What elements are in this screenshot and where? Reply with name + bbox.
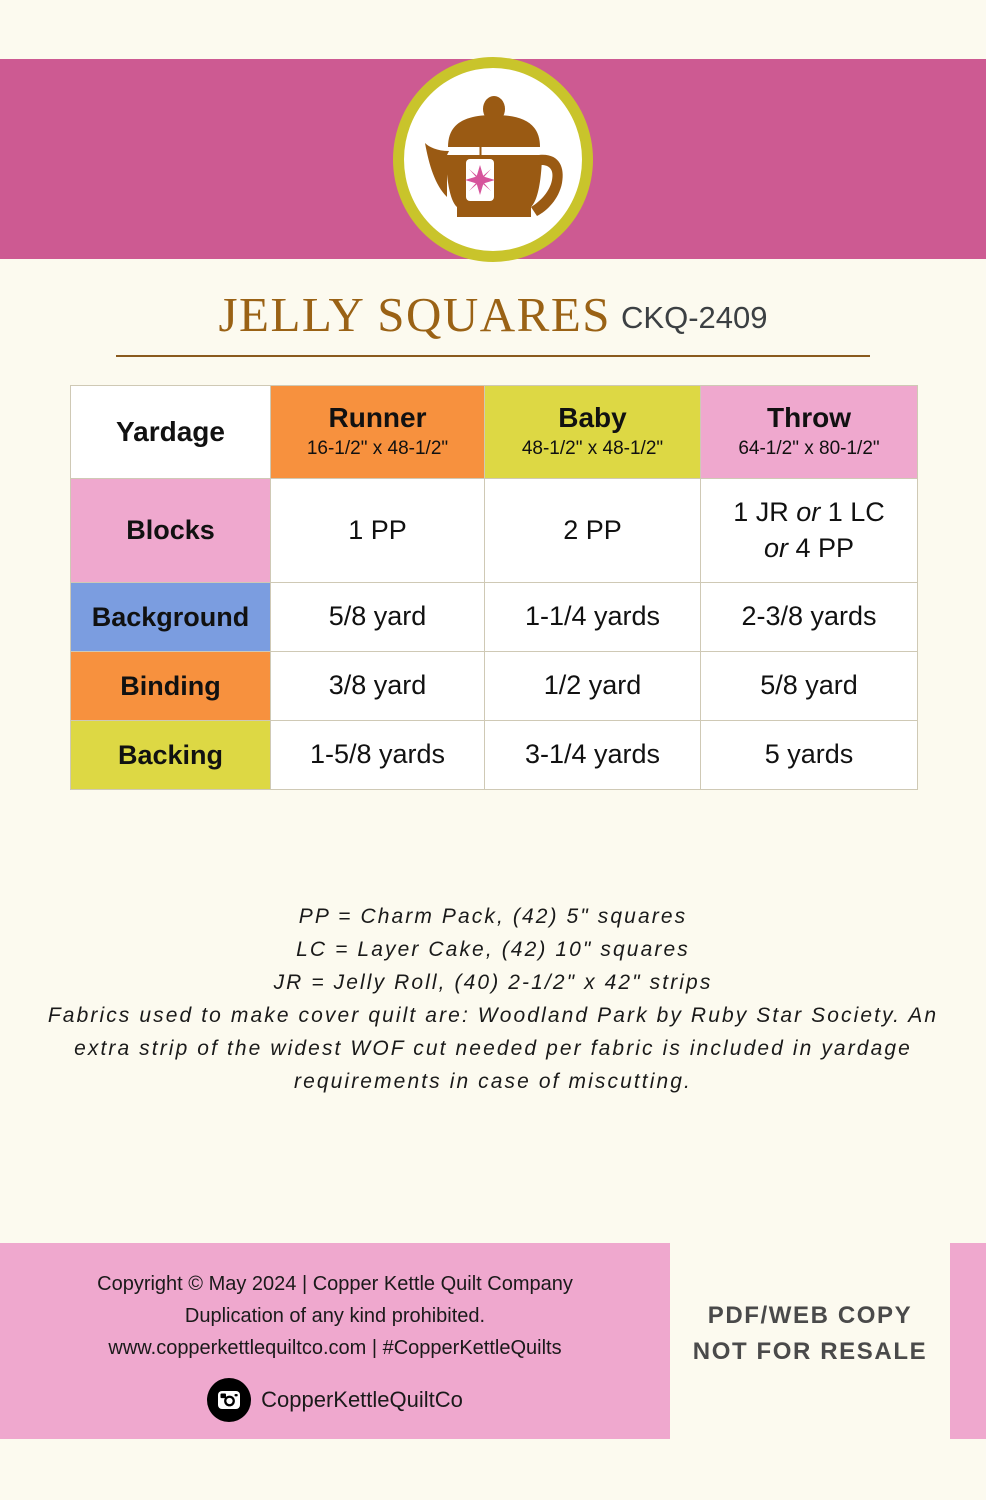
throw-blocks-part-a: 1 JR [733, 497, 796, 527]
header-size: 64-1/2" x 80-1/2" [701, 436, 917, 463]
footer-social-row[interactable]: CopperKettleQuiltCo [0, 1378, 670, 1422]
cell-binding-throw: 5/8 yard [701, 652, 918, 721]
resale-notice: PDF/WEB COPY NOT FOR RESALE [672, 1298, 948, 1370]
throw-blocks-or-1: or [796, 497, 820, 527]
table-row: Binding 3/8 yard 1/2 yard 5/8 yard [71, 652, 918, 721]
pattern-name: JELLY SQUARES [218, 287, 611, 342]
table-header-row: Yardage Runner 16-1/2" x 48-1/2" Baby 48… [71, 386, 918, 479]
note-line-jr: JR = Jelly Roll, (40) 2-1/2" x 42" strip… [43, 966, 943, 999]
throw-blocks-or-2: or [764, 533, 788, 563]
header-size: 48-1/2" x 48-1/2" [485, 436, 700, 463]
table-row: Backing 1-5/8 yards 3-1/4 yards 5 yards [71, 721, 918, 790]
title-divider [116, 355, 870, 357]
yardage-table: Yardage Runner 16-1/2" x 48-1/2" Baby 48… [70, 385, 918, 790]
footer-accent-sliver [950, 1243, 986, 1439]
table-row: Background 5/8 yard 1-1/4 yards 2-3/8 ya… [71, 583, 918, 652]
table-header-yardage: Yardage [71, 386, 271, 479]
cell-blocks-runner: 1 PP [271, 479, 485, 583]
pattern-code: CKQ-2409 [621, 300, 767, 335]
note-line-pp: PP = Charm Pack, (42) 5" squares [43, 900, 943, 933]
cell-binding-baby: 1/2 yard [485, 652, 701, 721]
row-label-blocks: Blocks [71, 479, 271, 583]
row-label-backing: Backing [71, 721, 271, 790]
resale-line-1: PDF/WEB COPY [672, 1298, 948, 1334]
cell-background-throw: 2-3/8 yards [701, 583, 918, 652]
header-size: 16-1/2" x 48-1/2" [271, 436, 484, 463]
instagram-handle[interactable]: CopperKettleQuiltCo [261, 1387, 463, 1413]
table-header-runner: Runner 16-1/2" x 48-1/2" [271, 386, 485, 479]
row-label-background: Background [71, 583, 271, 652]
cell-blocks-throw: 1 JR or 1 LC or 4 PP [701, 479, 918, 583]
footer-text-block: Copyright © May 2024 | Copper Kettle Qui… [0, 1268, 670, 1364]
cell-binding-runner: 3/8 yard [271, 652, 485, 721]
header-label: Yardage [71, 416, 270, 448]
throw-blocks-part-b: 1 LC [820, 497, 885, 527]
brand-logo [393, 57, 593, 262]
throw-blocks-part-c: 4 PP [788, 533, 854, 563]
table-header-baby: Baby 48-1/2" x 48-1/2" [485, 386, 701, 479]
resale-line-2: NOT FOR RESALE [672, 1334, 948, 1370]
notes-block: PP = Charm Pack, (42) 5" squares LC = La… [43, 900, 943, 1098]
cell-backing-runner: 1-5/8 yards [271, 721, 485, 790]
note-line-lc: LC = Layer Cake, (42) 10" squares [43, 933, 943, 966]
cell-blocks-baby: 2 PP [485, 479, 701, 583]
cell-backing-throw: 5 yards [701, 721, 918, 790]
header-label: Throw [701, 402, 917, 434]
header-label: Baby [485, 402, 700, 434]
footer-duplication: Duplication of any kind prohibited. [0, 1300, 670, 1332]
cell-background-runner: 5/8 yard [271, 583, 485, 652]
row-label-binding: Binding [71, 652, 271, 721]
cell-background-baby: 1-1/4 yards [485, 583, 701, 652]
note-line-fabrics: Fabrics used to make cover quilt are: Wo… [43, 999, 943, 1098]
page-title: JELLY SQUARESCKQ-2409 [0, 286, 986, 343]
footer-website[interactable]: www.copperkettlequiltco.com | #CopperKet… [0, 1332, 670, 1364]
cell-backing-baby: 3-1/4 yards [485, 721, 701, 790]
header-label: Runner [271, 402, 484, 434]
table-header-throw: Throw 64-1/2" x 80-1/2" [701, 386, 918, 479]
footer-copyright: Copyright © May 2024 | Copper Kettle Qui… [0, 1268, 670, 1300]
instagram-icon[interactable] [207, 1378, 251, 1422]
table-row: Blocks 1 PP 2 PP 1 JR or 1 LC or 4 PP [71, 479, 918, 583]
teapot-logo-icon [419, 85, 569, 235]
